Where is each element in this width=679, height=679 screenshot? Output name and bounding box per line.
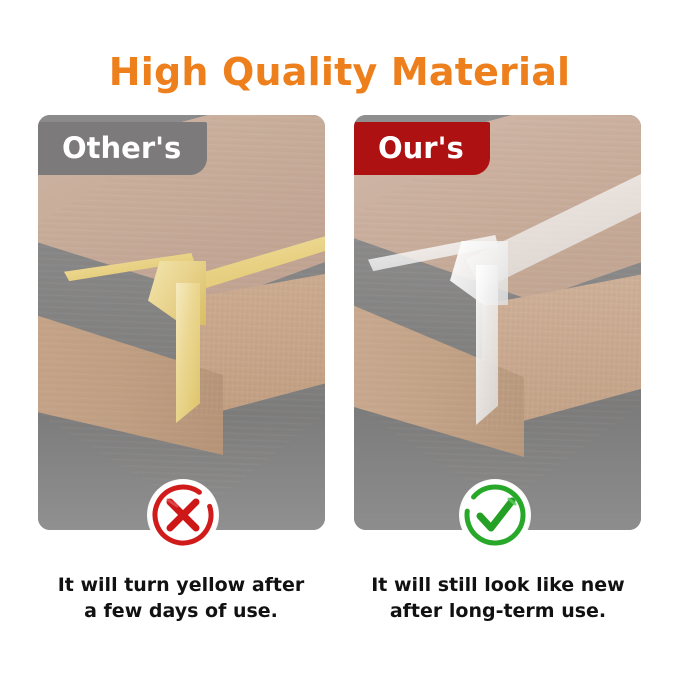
- comparison-panel-other: Other's: [38, 115, 325, 530]
- caption-ours-line2: after long-term use.: [343, 598, 653, 624]
- caption-other-line2: a few days of use.: [26, 598, 336, 624]
- caption-ours: It will still look like new after long-t…: [343, 572, 653, 624]
- edge-guard-vertical-face-clear: [476, 265, 498, 425]
- edge-guard-vertical-face-yellowed: [176, 283, 200, 423]
- label-badge-ours: Our's: [354, 122, 490, 175]
- label-badge-other: Other's: [38, 122, 207, 175]
- cross-icon: [147, 479, 219, 551]
- caption-other-line1: It will turn yellow after: [26, 572, 336, 598]
- comparison-panel-ours: Our's: [354, 115, 641, 530]
- page-title: High Quality Material: [0, 50, 679, 94]
- caption-other: It will turn yellow after a few days of …: [26, 572, 336, 624]
- check-icon: [459, 479, 531, 551]
- caption-ours-line1: It will still look like new: [343, 572, 653, 598]
